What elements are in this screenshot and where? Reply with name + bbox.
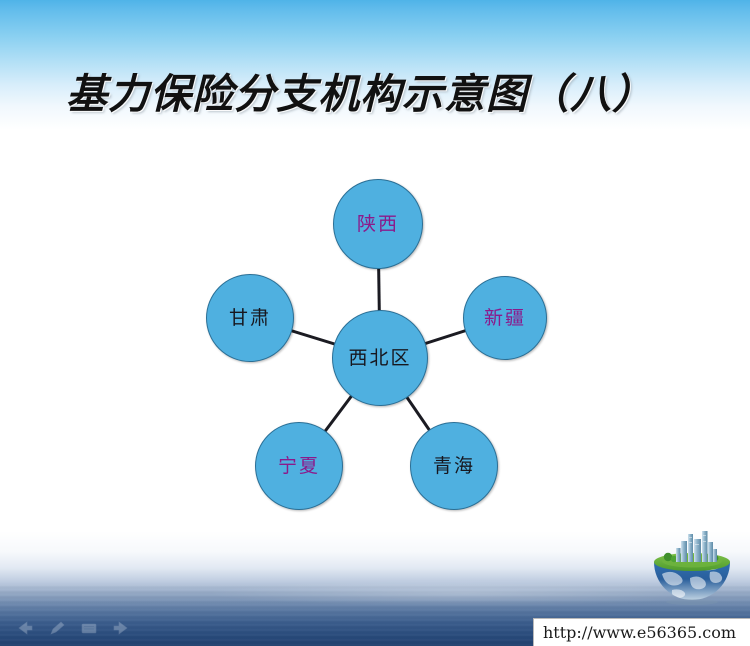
node-northwest-region-hub[interactable]: 西北区 [332,310,428,406]
watermark-url-text: http://www.e56365.com [543,623,736,642]
node-label-qinghai: 青海 [433,457,475,476]
node-label-xinjiang: 新疆 [484,309,526,328]
pen-icon[interactable] [48,620,66,636]
watermark-url-box: http://www.e56365.com [533,618,750,646]
node-xinjiang[interactable]: 新疆 [463,276,547,360]
slideshow-nav-controls[interactable] [16,620,130,636]
node-gansu[interactable]: 甘肃 [206,274,294,362]
node-label-ningxia: 宁夏 [278,457,320,476]
node-label-northwest-region: 西北区 [348,349,411,368]
node-label-gansu: 甘肃 [229,309,271,328]
node-ningxia[interactable]: 宁夏 [255,422,343,510]
presentation-slide: 基力保险分支机构示意图（八） 陕西 甘肃 新疆 宁夏 青海 [0,0,750,646]
globe-city-logo-icon [648,528,736,608]
node-label-shaanxi: 陕西 [357,215,399,234]
prev-arrow-icon[interactable] [16,620,34,636]
next-arrow-icon[interactable] [112,620,130,636]
menu-icon[interactable] [80,620,98,636]
node-qinghai[interactable]: 青海 [410,422,498,510]
org-chart-diagram: 陕西 甘肃 新疆 宁夏 青海 西北区 [0,0,750,646]
node-shaanxi[interactable]: 陕西 [333,179,423,269]
